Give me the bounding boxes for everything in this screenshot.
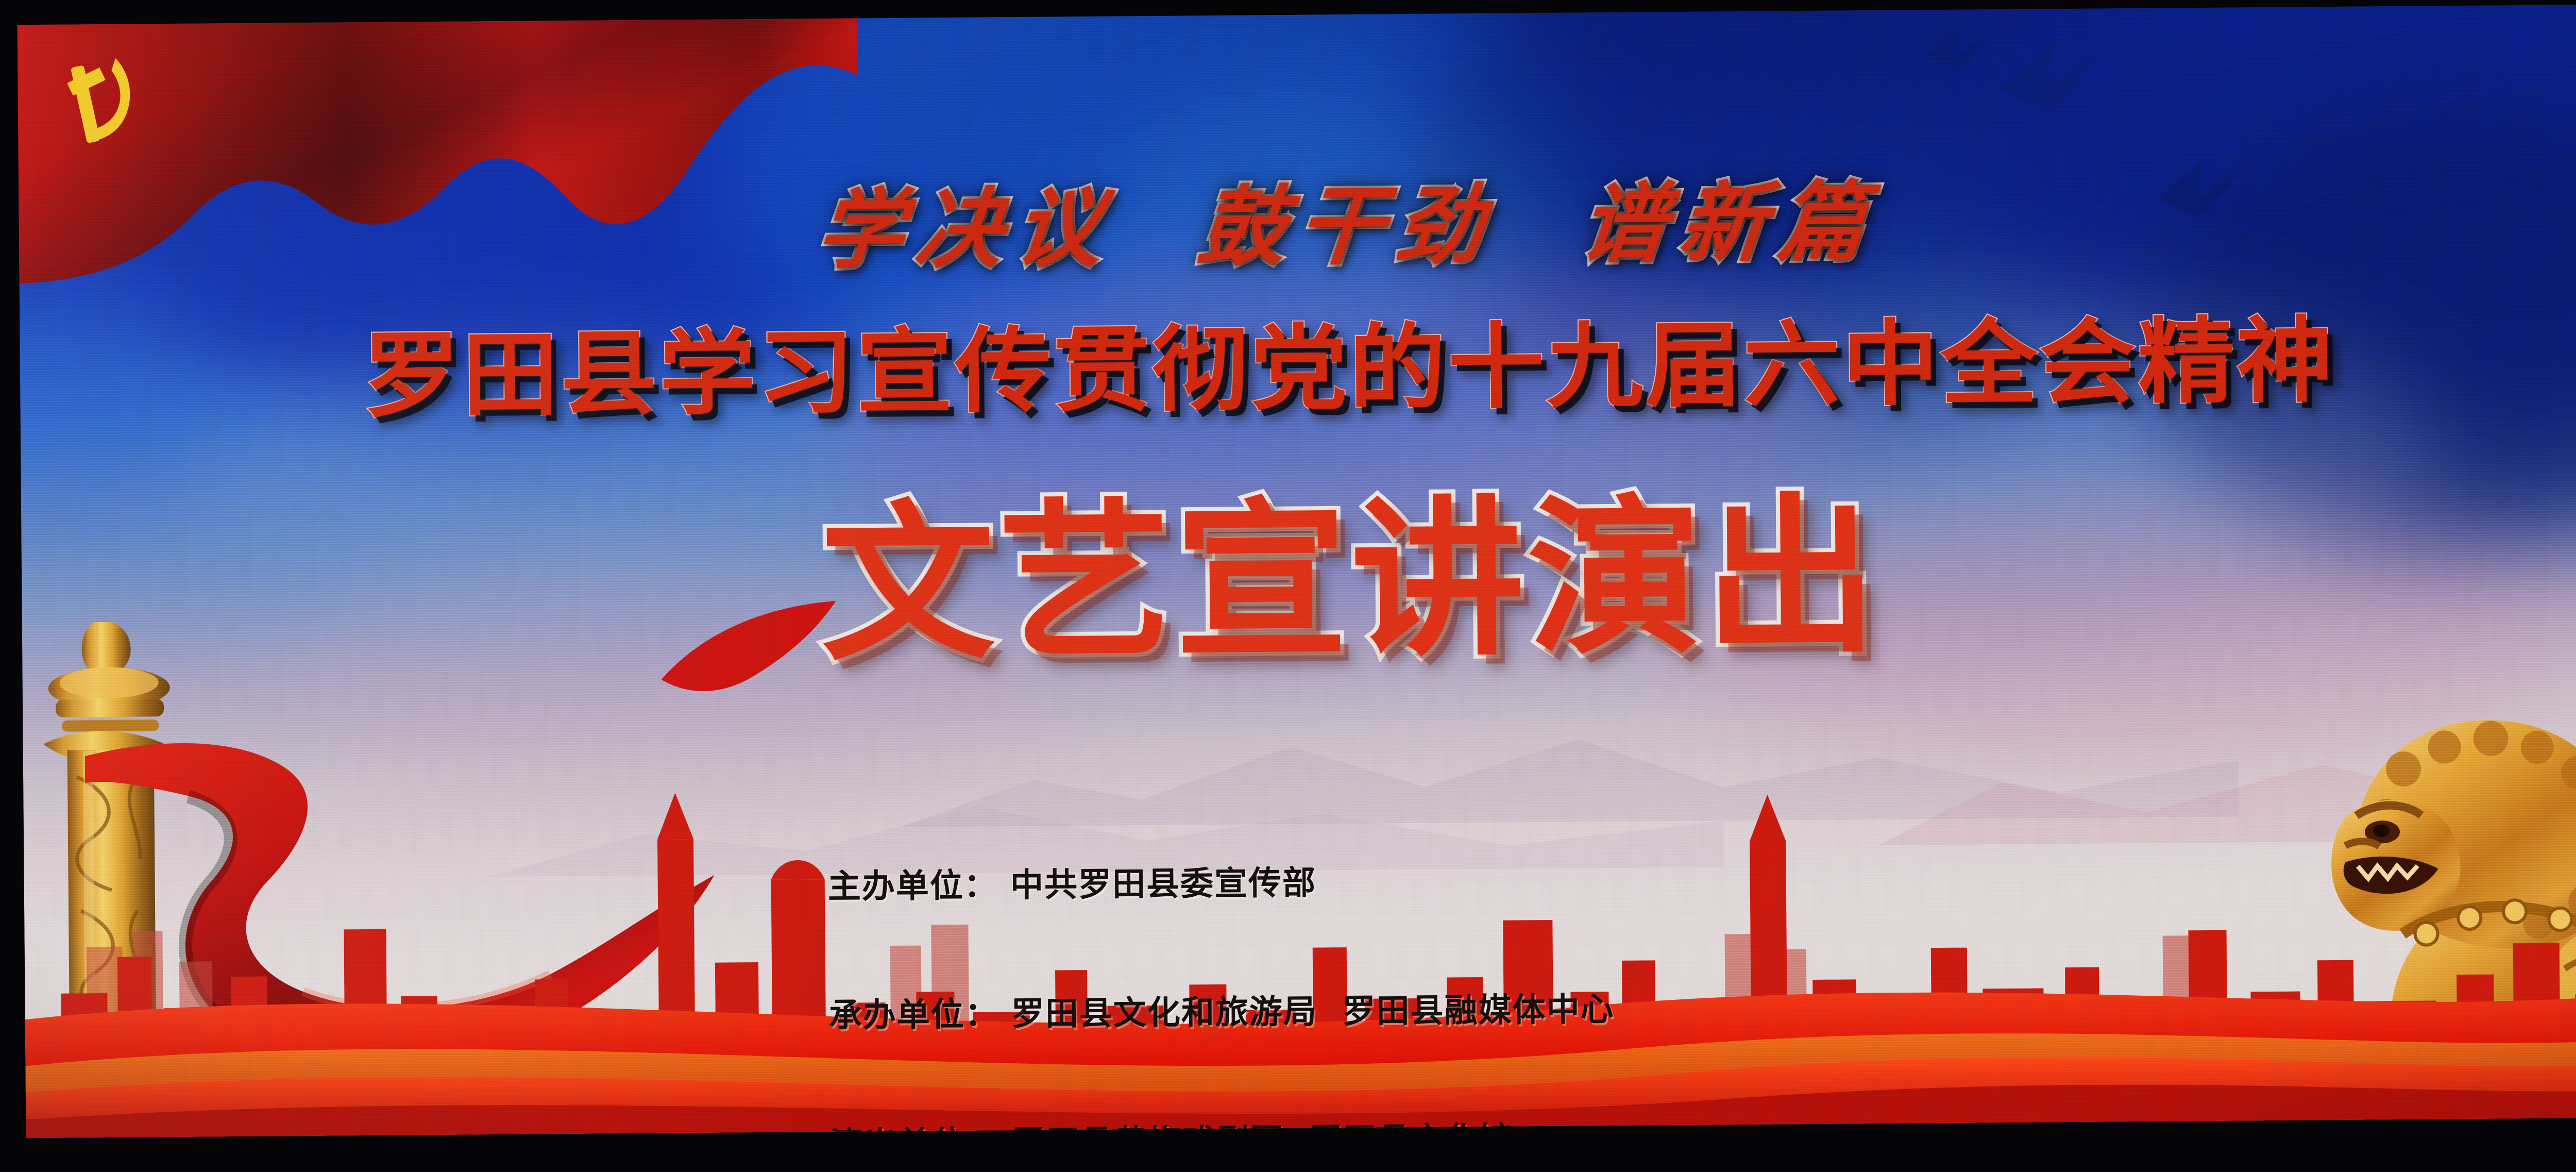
led-wall-frame: 学决议 鼓干劲 谱新篇 罗田县学习宣传贯彻党的十九届六中全会精神 文艺宣讲演出 … xyxy=(0,0,2576,1172)
credit-row-performer: 演出单位： 罗田县黄梅戏剧团 罗田县文化馆 xyxy=(829,1117,1615,1138)
credits-block: 主办单位： 中共罗田县委宣传部 承办单位： 罗田县文化和旅游局 罗田县融媒体中心… xyxy=(827,774,1616,1138)
hammer-and-sickle-icon xyxy=(38,44,152,159)
red-silk-ribbon-icon xyxy=(660,601,846,695)
credit-row-organizer: 主办单位： 中共罗田县委宣传部 xyxy=(827,860,1613,909)
dove-icon xyxy=(2157,157,2250,224)
dove-icon xyxy=(1924,20,2002,77)
credit-row-host: 承办单位： 罗田县文化和旅游局 罗田县融媒体中心 xyxy=(828,989,1614,1037)
dove-icon xyxy=(1996,39,2115,118)
led-screen: 学决议 鼓干劲 谱新篇 罗田县学习宣传贯彻党的十九届六中全会精神 文艺宣讲演出 … xyxy=(18,4,2576,1138)
